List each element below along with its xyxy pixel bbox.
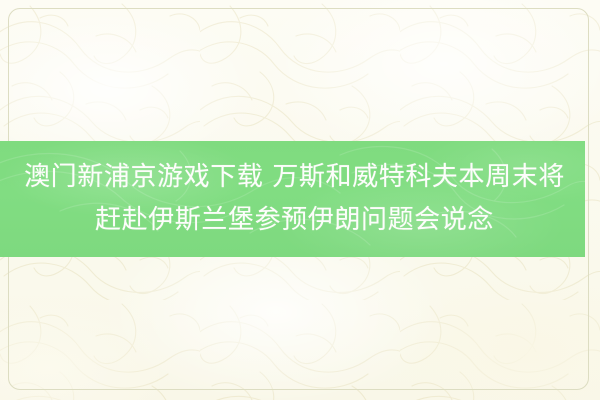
headline-banner: 澳门新浦京游戏下载 万斯和威特科夫本周末将 赶赴伊斯兰堡参预伊朗问题会说念: [0, 141, 585, 257]
headline-title: 澳门新浦京游戏下载 万斯和威特科夫本周末将 赶赴伊斯兰堡参预伊朗问题会说念: [24, 156, 565, 242]
image-canvas: 澳门新浦京游戏下载 万斯和威特科夫本周末将 赶赴伊斯兰堡参预伊朗问题会说念: [0, 0, 600, 400]
